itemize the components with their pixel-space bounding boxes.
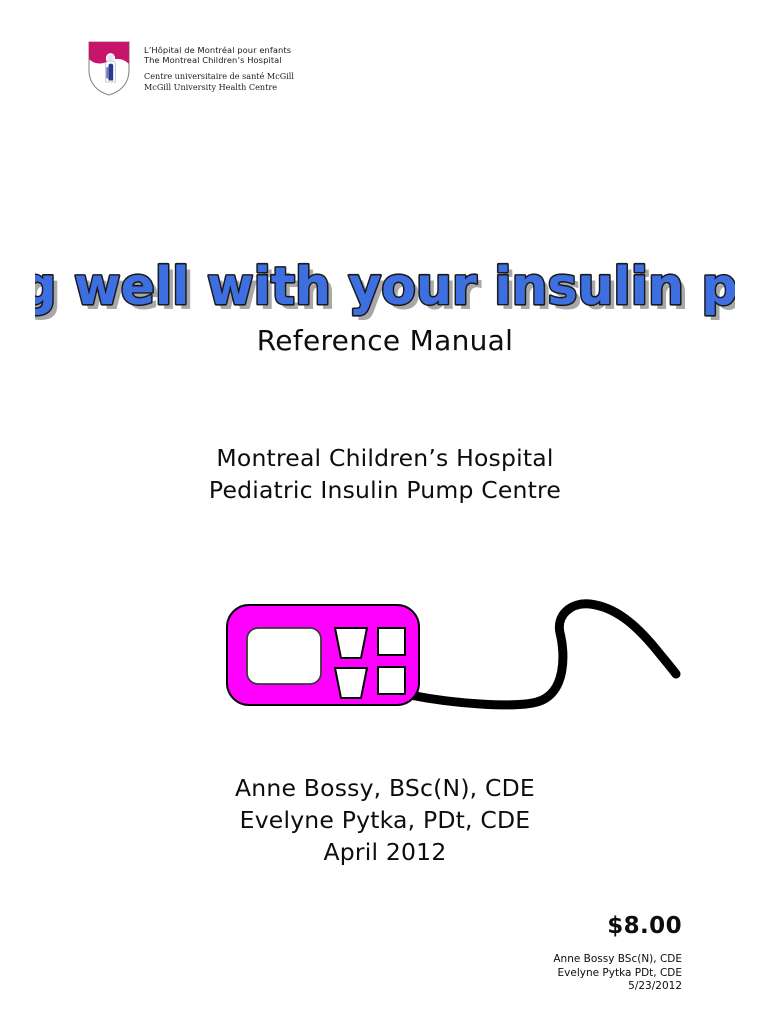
footer-credits: Anne Bossy BSc(N), CDE Evelyne Pytka PDt… xyxy=(553,953,682,994)
infusion-tubing xyxy=(410,604,676,705)
footer-credit-2: Evelyne Pytka PDt, CDE xyxy=(553,967,682,981)
wordart-title: Living well with your insulin pump! xyxy=(0,252,770,322)
publication-date: April 2012 xyxy=(0,836,770,868)
button-down-arrow[interactable] xyxy=(335,628,367,658)
logo-line-en-centre: McGill University Health Centre xyxy=(144,82,294,92)
page-subtitle: Reference Manual xyxy=(0,324,770,358)
organization-line-1: Montreal Children’s Hospital xyxy=(0,442,770,474)
author-line-2: Evelyne Pytka, PDt, CDE xyxy=(0,804,770,836)
mch-shield-icon xyxy=(86,40,132,97)
price-label: $8.00 xyxy=(607,913,682,939)
pump-screen xyxy=(247,628,321,684)
organization-block: Montreal Children’s Hospital Pediatric I… xyxy=(0,442,770,506)
button-square-top[interactable] xyxy=(378,628,405,655)
insulin-pump-illustration xyxy=(215,578,695,718)
hospital-logo: L’Hôpital de Montréal pour enfants The M… xyxy=(86,40,294,97)
logo-text-block: L’Hôpital de Montréal pour enfants The M… xyxy=(144,40,294,92)
author-line-1: Anne Bossy, BSc(N), CDE xyxy=(0,772,770,804)
organization-line-2: Pediatric Insulin Pump Centre xyxy=(0,474,770,506)
logo-line-fr-centre: Centre universitaire de santé McGill xyxy=(144,71,294,81)
logo-line-fr-hospital: L’Hôpital de Montréal pour enfants xyxy=(144,45,294,55)
footer-date: 5/23/2012 xyxy=(553,980,682,994)
button-up-arrow[interactable] xyxy=(335,668,367,698)
button-square-bottom[interactable] xyxy=(378,667,405,694)
footer-credit-1: Anne Bossy BSc(N), CDE xyxy=(553,953,682,967)
logo-line-en-hospital: The Montreal Children’s Hospital xyxy=(144,55,294,65)
authors-block: Anne Bossy, BSc(N), CDE Evelyne Pytka, P… xyxy=(0,772,770,868)
